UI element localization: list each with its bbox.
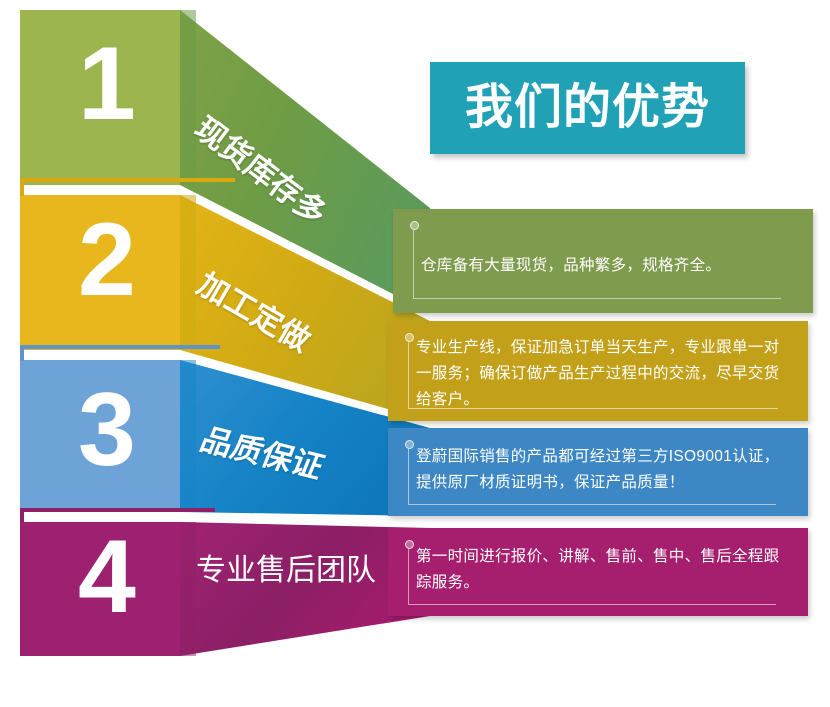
row-1-ribbon-fold — [180, 10, 196, 185]
pin-line-horizontal — [413, 298, 781, 299]
pin-line-vertical — [408, 342, 409, 408]
infographic-canvas: 我们的优势 1 2 3 4 现货库存多 加工定做 品质保证 专业售后团队 仓库备… — [0, 0, 830, 707]
row-number-2: 2 — [78, 208, 136, 312]
pin-line-vertical — [408, 549, 409, 604]
pin-dot-icon — [405, 333, 414, 342]
row-number-1: 1 — [78, 32, 136, 136]
content-text-3: 登蔚国际销售的产品都可经过第三方ISO9001认证，提供原厂材质证明书，保证产品… — [416, 444, 790, 496]
pin-dot-icon — [405, 540, 414, 549]
content-box-3: 登蔚国际销售的产品都可经过第三方ISO9001认证，提供原厂材质证明书，保证产品… — [388, 428, 808, 516]
row-2-top-accent — [20, 178, 235, 182]
row-2-ribbon-fold — [180, 195, 196, 350]
pin-dot-icon — [410, 221, 419, 230]
pin-dot-icon — [405, 440, 414, 449]
content-box-2: 专业生产线，保证加急订单当天生产，专业跟单一对一服务；确保订做产品生产过程中的交… — [388, 321, 808, 421]
row-4-top-accent — [20, 508, 215, 512]
pin-line-horizontal — [408, 604, 776, 605]
content-text-1: 仓库备有大量现货，品种繁多，规格齐全。 — [421, 253, 795, 279]
row-label-4: 专业售后团队 — [196, 556, 376, 586]
row-3-top-accent — [20, 345, 220, 349]
row-3-ribbon-fold — [180, 360, 196, 512]
pin-line-vertical — [408, 449, 409, 504]
content-text-2: 专业生产线，保证加急订单当天生产，专业跟单一对一服务；确保订做产品生产过程中的交… — [416, 335, 790, 413]
row-number-4: 4 — [78, 525, 136, 629]
row-number-3: 3 — [78, 378, 136, 482]
page-title: 我们的优势 — [465, 84, 710, 132]
content-text-4: 第一时间进行报价、讲解、售前、售中、售后全程跟踪服务。 — [416, 544, 790, 596]
content-box-4: 第一时间进行报价、讲解、售前、售中、售后全程跟踪服务。 — [388, 528, 808, 616]
pin-line-horizontal — [408, 504, 776, 505]
row-4-ribbon-fold — [180, 522, 196, 656]
pin-line-vertical — [413, 230, 414, 298]
content-box-1: 仓库备有大量现货，品种繁多，规格齐全。 — [393, 209, 813, 313]
header-banner: 我们的优势 — [430, 62, 745, 154]
